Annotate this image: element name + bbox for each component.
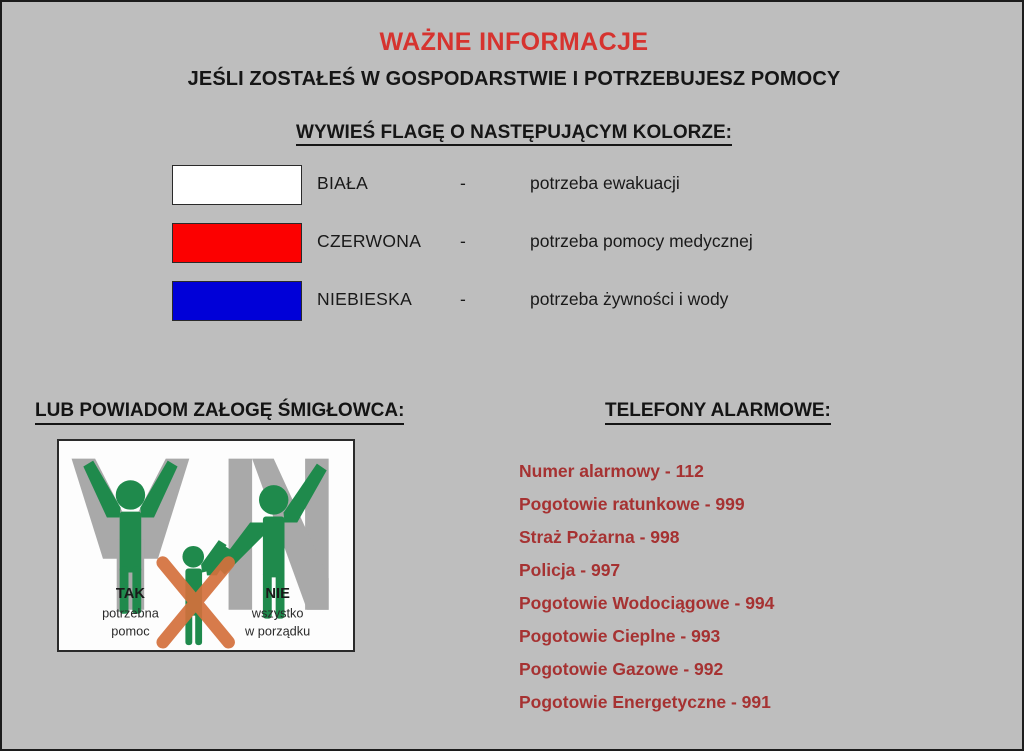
flag-row-white: BIAŁA - potrzeba ewakuacji — [2, 165, 1024, 223]
flag-row-red: CZERWONA - potrzeba pomocy medycznej — [2, 223, 1024, 281]
flag-legend-list: BIAŁA - potrzeba ewakuacji CZERWONA - po… — [2, 165, 1024, 339]
caption-no-line1: wszystko — [251, 606, 304, 621]
flag-swatch-red — [172, 223, 302, 263]
telephones-heading-text: TELEFONY ALARMOWE: — [605, 400, 831, 425]
flag-swatch-blue — [172, 281, 302, 321]
phone-list-item: Pogotowie Wodociągowe - 994 — [519, 587, 774, 620]
telephones-heading: TELEFONY ALARMOWE: — [605, 400, 831, 422]
phone-list-item: Pogotowie Cieplne - 993 — [519, 620, 774, 653]
flag-color-name: CZERWONA — [317, 231, 421, 252]
flag-swatch-white — [172, 165, 302, 205]
flag-separator-dash: - — [460, 289, 466, 310]
flag-description: potrzeba pomocy medycznej — [530, 231, 753, 252]
phone-list-item: Policja - 997 — [519, 554, 774, 587]
page-title: WAŻNE INFORMACJE — [2, 28, 1024, 57]
caption-yes-line1: potrzebna — [102, 606, 160, 621]
helicopter-signal-diagram: TAK potrzebna pomoc NIE wszystko w porzą… — [57, 439, 355, 652]
flag-separator-dash: - — [460, 173, 466, 194]
flag-separator-dash: - — [460, 231, 466, 252]
phone-list-item: Pogotowie Gazowe - 992 — [519, 653, 774, 686]
flag-section-heading-text: WYWIEŚ FLAGĘ O NASTĘPUJĄCYM KOLORZE: — [296, 122, 732, 146]
flag-row-blue: NIEBIESKA - potrzeba żywności i wody — [2, 281, 1024, 339]
helicopter-section-heading: LUB POWIADOM ZAŁOGĘ ŚMIGŁOWCA: — [35, 400, 404, 422]
flag-color-name: BIAŁA — [317, 173, 368, 194]
caption-yes-label: TAK — [116, 586, 146, 602]
phone-list-item: Straż Pożarna - 998 — [519, 521, 774, 554]
caption-no-label: NIE — [265, 586, 290, 602]
phone-list-item: Numer alarmowy - 112 — [519, 455, 774, 488]
phone-list-item: Pogotowie Energetyczne - 991 — [519, 686, 774, 719]
emergency-phone-list: Numer alarmowy - 112 Pogotowie ratunkowe… — [519, 455, 774, 719]
helicopter-section-heading-text: LUB POWIADOM ZAŁOGĘ ŚMIGŁOWCA: — [35, 400, 404, 425]
flag-description: potrzeba żywności i wody — [530, 289, 728, 310]
caption-no-line2: w porządku — [244, 623, 310, 638]
flag-section-heading: WYWIEŚ FLAGĘ O NASTĘPUJĄCYM KOLORZE: — [2, 122, 1024, 144]
flag-description: potrzeba ewakuacji — [530, 173, 680, 194]
page-subtitle: JEŚLI ZOSTAŁEŚ W GOSPODARSTWIE I POTRZEB… — [2, 68, 1024, 91]
figure-crossed-out-middle — [163, 540, 233, 645]
phone-list-item: Pogotowie ratunkowe - 999 — [519, 488, 774, 521]
caption-yes-line2: pomoc — [111, 623, 150, 638]
flag-color-name: NIEBIESKA — [317, 289, 412, 310]
emergency-information-poster: WAŻNE INFORMACJE JEŚLI ZOSTAŁEŚ W GOSPOD… — [0, 0, 1024, 751]
